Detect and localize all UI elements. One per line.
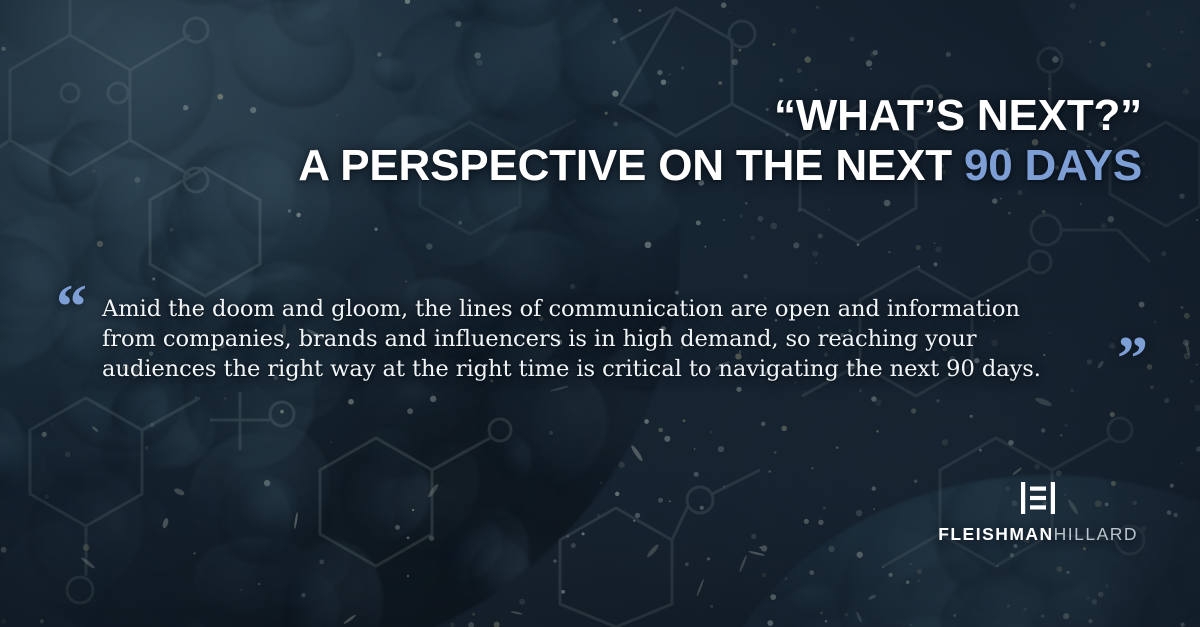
close-quote-mark: ” [1117,328,1148,390]
headline-line-1: “WHAT’S NEXT?” [298,94,1142,138]
quote-line-1: Amid the doom and gloom, the lines of co… [102,294,1092,324]
quote-text: Amid the doom and gloom, the lines of co… [102,294,1092,384]
logo-wordmark: FLEISHMANHILLARD [938,524,1138,545]
promo-graphic: “WHAT’S NEXT?” A PERSPECTIVE ON THE NEXT… [0,0,1200,627]
headline-accent-90-days: 90 DAYS [964,141,1142,190]
headline-line-2: A PERSPECTIVE ON THE NEXT 90 DAYS [298,144,1142,188]
fleishmanhillard-mark-icon [1020,481,1056,515]
logo-word-fleishman: FLEISHMAN [938,524,1053,544]
quote-line-3: audiences the right way at the right tim… [102,354,1092,384]
open-quote-mark: “ [56,276,87,338]
logo-word-hillard: HILLARD [1054,524,1138,544]
fleishmanhillard-logo: FLEISHMANHILLARD [938,481,1138,545]
quote-line-2: from companies, brands and influencers i… [102,324,1092,354]
headline: “WHAT’S NEXT?” A PERSPECTIVE ON THE NEXT… [298,94,1142,188]
headline-line-2-prefix: A PERSPECTIVE ON THE NEXT [298,141,964,190]
